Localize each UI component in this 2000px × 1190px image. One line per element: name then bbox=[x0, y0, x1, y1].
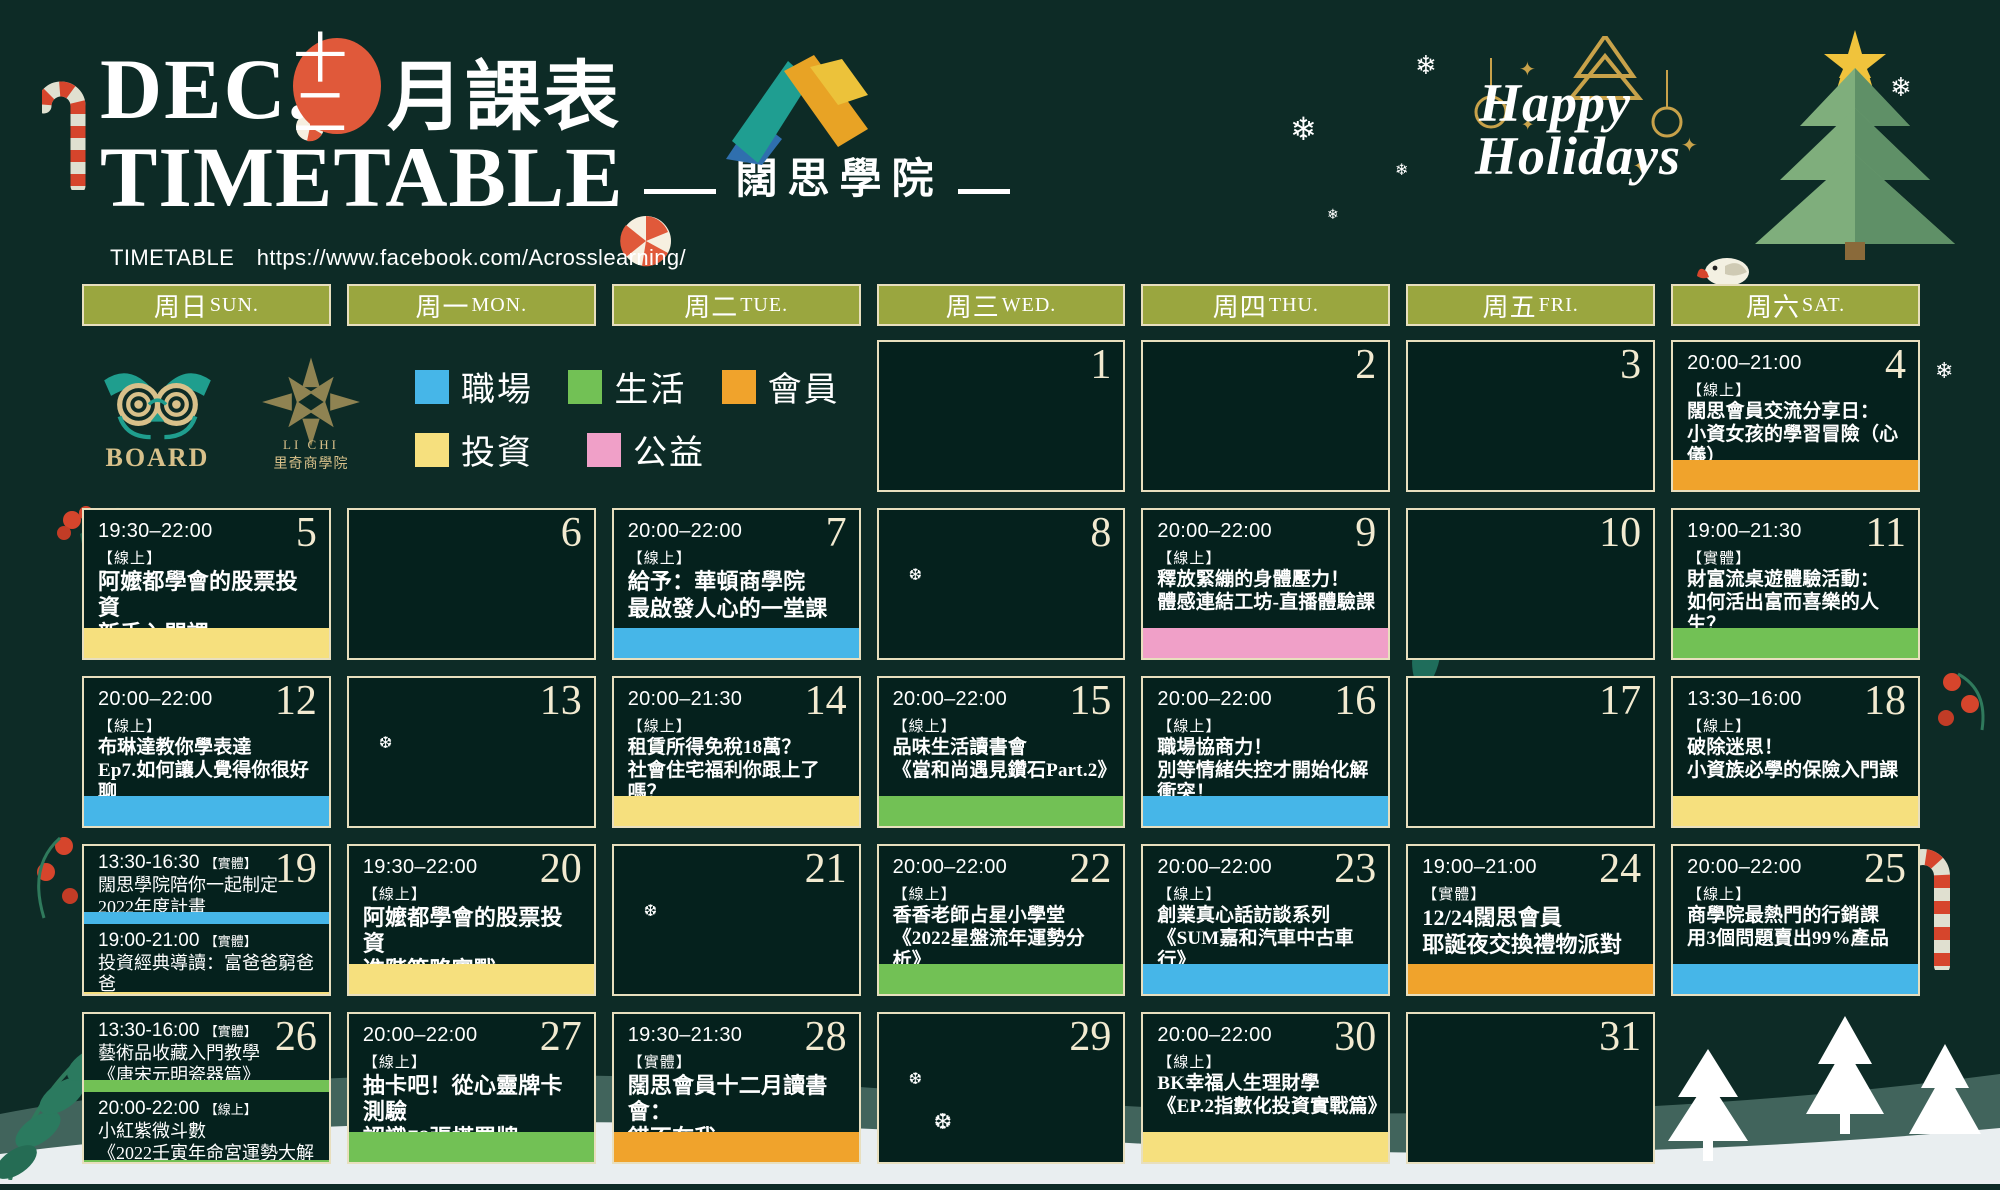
calendar-event[interactable]: 19:00–21:30【實體】財富流桌遊體驗活動：如何活出富而喜樂的人生？ bbox=[1673, 510, 1918, 636]
timetable-label: TIMETABLE bbox=[100, 134, 624, 220]
event-mode: 【線上】 bbox=[205, 1102, 257, 1117]
event-time: 19:30–22:00 bbox=[84, 510, 329, 543]
month-en-label: DEC. bbox=[100, 49, 311, 131]
event-time: 20:00–22:00 bbox=[349, 1014, 594, 1047]
event-title-line: 小紅紫微斗數 bbox=[84, 1120, 329, 1142]
event-title-line: 用3個問題賣出99%產品 bbox=[1673, 927, 1918, 950]
legend-item-investment: 投資 bbox=[415, 425, 587, 474]
snowflake-icon: ❆ bbox=[644, 901, 657, 921]
weekday-header-row: 周日SUN. 周一MON. 周二TUE. 周三WED. 周四THU. 周五FRI… bbox=[82, 284, 1920, 326]
event-time: 13:30–16:00 bbox=[1673, 678, 1918, 711]
legend-item-member: 會員 bbox=[722, 362, 875, 411]
event-title-line: 破除迷思！ bbox=[1673, 736, 1918, 759]
url-label: TIMETABLE bbox=[110, 245, 234, 270]
legend-row-2: 投資 公益 bbox=[415, 425, 875, 474]
calendar-event[interactable]: 19:30–21:30【實體】闊思會員十二月讀書會：錯不在我 bbox=[614, 1014, 859, 1151]
calendar-day-cell[interactable]: 1520:00–22:00【線上】品味生活讀書會《當和尚遇見鑽石Part.2》 bbox=[877, 676, 1126, 828]
event-category-bar bbox=[84, 796, 329, 826]
event-category-bar bbox=[84, 992, 329, 996]
event-title-line: 香香老師占星小學堂 bbox=[879, 904, 1124, 927]
day-number: 21 bbox=[805, 848, 847, 890]
berry-branch-icon bbox=[1932, 660, 2000, 770]
event-title-line: BK幸福人生理財學 bbox=[1143, 1072, 1388, 1095]
legend-swatch-icon bbox=[722, 370, 756, 404]
event-title-line: 創業真心話訪談系列 bbox=[1143, 904, 1388, 927]
event-category-bar bbox=[1673, 964, 1918, 994]
month-stamp: 十二 bbox=[293, 38, 381, 134]
weekday-cn-label: 周四 bbox=[1213, 287, 1267, 324]
event-time: 19:00-21:00 【實體】 bbox=[84, 924, 329, 952]
event-time: 20:00–22:00 bbox=[1143, 678, 1388, 711]
calendar-event[interactable]: 20:00–21:00【線上】闊思會員交流分享日：小資女孩的學習冒險（心儀） bbox=[1673, 342, 1918, 468]
legend-label: 公益 bbox=[633, 425, 705, 474]
title-divider bbox=[644, 189, 716, 194]
event-mode: 【實體】 bbox=[1673, 543, 1918, 568]
event-time: 19:30–21:30 bbox=[614, 1014, 859, 1047]
month-stamp-label: 十二 bbox=[293, 32, 381, 140]
calendar-event[interactable]: 20:00–22:00【線上】給予：華頓商學院最啟發人心的一堂課 bbox=[614, 510, 859, 621]
calendar-day-cell[interactable]: 420:00–21:00【線上】闊思會員交流分享日：小資女孩的學習冒險（心儀） bbox=[1671, 340, 1920, 492]
event-title-line: 《當和尚遇見鑽石Part.2》 bbox=[879, 759, 1124, 782]
calendar-event[interactable]: 20:00–22:00【線上】商學院最熱門的行銷課用3個問題賣出99%產品 bbox=[1673, 846, 1918, 950]
event-time: 19:30–22:00 bbox=[349, 846, 594, 879]
legend-row-1: 職場 生活 會員 bbox=[415, 362, 875, 411]
weekday-cn-label: 周日 bbox=[154, 287, 208, 324]
event-title-line: 商學院最熱門的行銷課 bbox=[1673, 904, 1918, 927]
event-category-bar bbox=[84, 912, 329, 924]
event-title-line: 闊思會員十二月讀書會： bbox=[614, 1072, 859, 1124]
calendar-event[interactable]: 13:30-16:00 【實體】藝術品收藏入門教學《唐宋元明瓷器篇》 bbox=[84, 1014, 329, 1086]
weekday-cn-label: 周二 bbox=[684, 287, 738, 324]
event-category-bar bbox=[1143, 1132, 1388, 1162]
event-title-line: 財富流桌遊體驗活動： bbox=[1673, 568, 1918, 591]
event-time: 13:30-16:00 【實體】 bbox=[84, 1014, 329, 1042]
calendar-day-cell[interactable]: 21❆ bbox=[612, 844, 861, 996]
event-category-bar bbox=[1408, 964, 1653, 994]
calendar-day-cell[interactable]: 2720:00–22:00【線上】抽卡吧！從心靈牌卡測驗認識78張塔羅牌 bbox=[347, 1012, 596, 1164]
weekday-en-label: MON. bbox=[471, 294, 527, 317]
happy-label: Happy bbox=[1479, 78, 1725, 129]
day-number: 6 bbox=[561, 512, 582, 554]
partner-lichi-logo: LI CHI 里奇商學院 bbox=[251, 354, 371, 473]
category-legend: 職場 生活 會員 投資 公益 bbox=[415, 362, 875, 488]
event-time: 20:00–22:00 bbox=[879, 678, 1124, 711]
weekday-cn-label: 周五 bbox=[1483, 287, 1537, 324]
event-title-line: 耶誕夜交換禮物派對 bbox=[1408, 931, 1653, 958]
weekday-en-label: WED. bbox=[1002, 294, 1057, 317]
event-time: 20:00–22:00 bbox=[879, 846, 1124, 879]
calendar-event[interactable]: 19:30–22:00【線上】阿嬤都學會的股票投資新手入門課 bbox=[84, 510, 329, 647]
event-mode: 【線上】 bbox=[1143, 543, 1388, 568]
day-number: 13 bbox=[540, 680, 582, 722]
weekday-thu: 周四THU. bbox=[1141, 284, 1390, 326]
calendar-day-cell[interactable]: 29❆❆ bbox=[877, 1012, 1126, 1164]
event-category-bar bbox=[1673, 628, 1918, 658]
calendar-event[interactable]: 19:30–22:00【線上】阿嬤都學會的股票投資進階策略實戰 bbox=[349, 846, 594, 983]
snowflake-icon: ❆ bbox=[909, 565, 922, 585]
snowflake-icon: ❆ bbox=[934, 1109, 952, 1135]
weekday-wed: 周三WED. bbox=[877, 284, 1126, 326]
event-category-bar bbox=[614, 628, 859, 658]
event-time: 20:00–22:00 bbox=[1143, 846, 1388, 879]
event-title-line: 闊思學院陪你一起制定 bbox=[84, 874, 329, 896]
event-title-line: 投資經典導讀：富爸爸窮爸爸 bbox=[84, 952, 329, 994]
calendar-day-cell[interactable]: 2819:30–21:30【實體】闊思會員十二月讀書會：錯不在我 bbox=[612, 1012, 861, 1164]
weekday-tue: 周二TUE. bbox=[612, 284, 861, 326]
weekday-en-label: SUN. bbox=[210, 294, 259, 317]
event-mode: 【線上】 bbox=[1143, 1047, 1388, 1072]
weekday-en-label: FRI. bbox=[1539, 294, 1579, 317]
event-mode: 【線上】 bbox=[349, 879, 594, 904]
calendar-day-cell[interactable]: 1220:00–22:00【線上】布琳達教你學表達Ep7.如何讓人覺得你很好聊 bbox=[82, 676, 331, 828]
event-time: 20:00–22:00 bbox=[1143, 510, 1388, 543]
calendar-day-cell[interactable]: 3020:00–22:00【線上】BK幸福人生理財學《EP.2指數化投資實戰篇》 bbox=[1141, 1012, 1390, 1164]
day-number: 1 bbox=[1090, 344, 1111, 386]
event-mode: 【線上】 bbox=[614, 711, 859, 736]
calendar-day-cell[interactable]: 1913:30-16:30 【實體】闊思學院陪你一起制定2022年度計畫19:0… bbox=[82, 844, 331, 996]
calendar-day-cell[interactable]: 17 bbox=[1406, 676, 1655, 828]
title-divider-2 bbox=[958, 189, 1010, 194]
calendar-day-cell[interactable]: 2320:00–22:00【線上】創業真心話訪談系列《SUM嘉和汽車中古車行》 bbox=[1141, 844, 1390, 996]
weekday-en-label: THU. bbox=[1269, 294, 1319, 317]
event-mode: 【實體】 bbox=[205, 1024, 257, 1039]
event-time: 19:00–21:30 bbox=[1673, 510, 1918, 543]
event-category-bar bbox=[1673, 460, 1918, 490]
calendar-event[interactable]: 20:00–22:00【線上】職場協商力！別等情緒失控才開始化解衝突！ bbox=[1143, 678, 1388, 804]
calendar-day-cell[interactable]: 1620:00–22:00【線上】職場協商力！別等情緒失控才開始化解衝突！ bbox=[1141, 676, 1390, 828]
event-mode: 【線上】 bbox=[349, 1047, 594, 1072]
calendar-event[interactable]: 19:00-21:00 【實體】投資經典導讀：富爸爸窮爸爸 bbox=[84, 924, 329, 996]
calendar-event[interactable]: 20:00–21:30【線上】租賃所得免稅18萬？社會住宅福利你跟上了嗎？ bbox=[614, 678, 859, 804]
event-category-bar bbox=[879, 964, 1124, 994]
event-time: 20:00–21:00 bbox=[1673, 342, 1918, 375]
event-mode: 【線上】 bbox=[879, 711, 1124, 736]
event-title-line: 闊思會員交流分享日： bbox=[1673, 400, 1918, 423]
event-category-bar bbox=[614, 1132, 859, 1162]
calendar-event[interactable]: 20:00–22:00【線上】布琳達教你學表達Ep7.如何讓人覺得你很好聊 bbox=[84, 678, 329, 804]
calendar-cell-empty bbox=[1671, 1012, 1920, 1164]
event-title-line: 抽卡吧！從心靈牌卡測驗 bbox=[349, 1072, 594, 1124]
calendar-event[interactable]: 20:00–22:00【線上】釋放緊繃的身體壓力！體感連結工坊-直播體驗課 bbox=[1143, 510, 1388, 614]
weekday-cn-label: 周一 bbox=[415, 287, 469, 324]
event-mode: 【線上】 bbox=[1143, 879, 1388, 904]
weekday-mon: 周一MON. bbox=[347, 284, 596, 326]
calendar-event[interactable]: 20:00–22:00【線上】抽卡吧！從心靈牌卡測驗認識78張塔羅牌 bbox=[349, 1014, 594, 1151]
event-time: 20:00–22:00 bbox=[84, 678, 329, 711]
legend-swatch-icon bbox=[587, 433, 621, 467]
weekday-cn-label: 周六 bbox=[1746, 287, 1800, 324]
event-category-bar bbox=[879, 796, 1124, 826]
title-block: DEC. 十二 月課表 TIMETABLE 闊思學院 bbox=[100, 40, 1010, 220]
calendar-day-cell[interactable]: 2520:00–22:00【線上】商學院最熱門的行銷課用3個問題賣出99%產品 bbox=[1671, 844, 1920, 996]
calendar-day-cell[interactable]: 2 bbox=[1141, 340, 1390, 492]
event-title-line: 阿嬤都學會的股票投資 bbox=[349, 904, 594, 956]
event-mode: 【實體】 bbox=[205, 934, 257, 949]
calendar-day-cell[interactable]: 2419:00–21:00【實體】12/24闊思會員耶誕夜交換禮物派對 bbox=[1406, 844, 1655, 996]
snowflake-icon: ❆ bbox=[379, 733, 392, 753]
calendar-day-cell[interactable]: 1420:00–21:30【線上】租賃所得免稅18萬？社會住宅福利你跟上了嗎？ bbox=[612, 676, 861, 828]
calendar-event[interactable]: 20:00-22:00 【線上】小紅紫微斗數《2022壬寅年命宮運勢大解密》 bbox=[84, 1092, 329, 1164]
calendar-day-cell[interactable]: 8❆ bbox=[877, 508, 1126, 660]
calendar-event[interactable]: 20:00–22:00【線上】BK幸福人生理財學《EP.2指數化投資實戰篇》 bbox=[1143, 1014, 1388, 1118]
event-category-bar bbox=[349, 964, 594, 994]
calendar-event[interactable]: 19:00–21:00【實體】12/24闊思會員耶誕夜交換禮物派對 bbox=[1408, 846, 1653, 957]
page-header: DEC. 十二 月課表 TIMETABLE 闊思學院 TIMETABLE htt… bbox=[0, 0, 2000, 280]
snowflake-icon: ❆ bbox=[909, 1069, 922, 1089]
event-mode: 【線上】 bbox=[84, 543, 329, 568]
event-category-bar bbox=[349, 1132, 594, 1162]
event-title-line: 阿嬤都學會的股票投資 bbox=[84, 568, 329, 620]
calendar-day-cell[interactable]: 519:30–22:00【線上】阿嬤都學會的股票投資新手入門課 bbox=[82, 508, 331, 660]
event-mode: 【線上】 bbox=[1673, 375, 1918, 400]
calendar-day-cell[interactable]: 13❆ bbox=[347, 676, 596, 828]
event-category-bar bbox=[1143, 628, 1388, 658]
legend-swatch-icon bbox=[415, 370, 449, 404]
calendar-day-cell[interactable]: 2019:30–22:00【線上】阿嬤都學會的股票投資進階策略實戰 bbox=[347, 844, 596, 996]
weekday-cn-label: 周三 bbox=[946, 287, 1000, 324]
calendar-day-cell[interactable]: 10 bbox=[1406, 508, 1655, 660]
event-time: 20:00–22:00 bbox=[1673, 846, 1918, 879]
event-time: 19:00–21:00 bbox=[1408, 846, 1653, 879]
weekday-en-label: SAT. bbox=[1802, 294, 1845, 317]
berry-branch-icon bbox=[18, 820, 88, 940]
owl-icon bbox=[90, 358, 225, 444]
weekday-fri: 周五FRI. bbox=[1406, 284, 1655, 326]
calendar-event[interactable]: 20:00–22:00【線上】香香老師占星小學堂《2022星盤流年運勢分析》 bbox=[879, 846, 1124, 972]
legend-item-charity: 公益 bbox=[587, 425, 759, 474]
event-category-bar bbox=[1143, 796, 1388, 826]
event-time: 13:30-16:30 【實體】 bbox=[84, 846, 329, 874]
event-mode: 【實體】 bbox=[1408, 879, 1653, 904]
facebook-url-link[interactable]: https://www.facebook.com/Acrosslearning/ bbox=[257, 245, 686, 270]
day-number: 8 bbox=[1090, 512, 1111, 554]
calendar-day-cell[interactable]: 31 bbox=[1406, 1012, 1655, 1164]
calendar-day-cell[interactable]: 1813:30–16:00【線上】破除迷思！小資族必學的保險入門課 bbox=[1671, 676, 1920, 828]
day-number: 17 bbox=[1599, 680, 1641, 722]
event-mode: 【線上】 bbox=[1673, 879, 1918, 904]
day-number: 31 bbox=[1599, 1016, 1641, 1058]
event-mode: 【線上】 bbox=[879, 879, 1124, 904]
event-time: 20:00–21:30 bbox=[614, 678, 859, 711]
weekday-en-label: TUE. bbox=[740, 294, 788, 317]
legend-label: 會員 bbox=[768, 362, 840, 411]
event-category-bar bbox=[84, 1160, 329, 1164]
event-time: 20:00-22:00 【線上】 bbox=[84, 1092, 329, 1120]
legend-label: 職場 bbox=[461, 362, 533, 411]
event-title-line: 小資族必學的保險入門課 bbox=[1673, 759, 1918, 782]
calendar-day-cell[interactable]: 6 bbox=[347, 508, 596, 660]
event-category-bar bbox=[84, 1080, 329, 1092]
partner-logos: BOARD LI CHI 里奇商學院 bbox=[90, 348, 390, 473]
event-title-line: 布琳達教你學表達 bbox=[84, 736, 329, 759]
day-number: 10 bbox=[1599, 512, 1641, 554]
event-title-line: 12/24闊思會員 bbox=[1408, 904, 1653, 931]
partner-board-label: BOARD bbox=[90, 443, 225, 473]
event-title-line: 租賃所得免稅18萬？ bbox=[614, 736, 859, 759]
legend-label: 投資 bbox=[461, 425, 533, 474]
calendar-day-cell[interactable]: 1 bbox=[877, 340, 1126, 492]
facebook-url-row[interactable]: TIMETABLE https://www.facebook.com/Acros… bbox=[110, 245, 686, 271]
calendar-day-cell[interactable]: 2613:30-16:00 【實體】藝術品收藏入門教學《唐宋元明瓷器篇》20:0… bbox=[82, 1012, 331, 1164]
calendar-day-cell[interactable]: 3 bbox=[1406, 340, 1655, 492]
calendar-event[interactable]: 20:00–22:00【線上】品味生活讀書會《當和尚遇見鑽石Part.2》 bbox=[879, 678, 1124, 782]
holidays-label: Holidays bbox=[1475, 131, 1725, 182]
legend-swatch-icon bbox=[415, 433, 449, 467]
calendar-event[interactable]: 13:30-16:30 【實體】闊思學院陪你一起制定2022年度計畫 bbox=[84, 846, 329, 918]
event-category-bar bbox=[84, 628, 329, 658]
event-mode: 【線上】 bbox=[614, 543, 859, 568]
calendar-day-cell[interactable]: 2220:00–22:00【線上】香香老師占星小學堂《2022星盤流年運勢分析》 bbox=[877, 844, 1126, 996]
event-category-bar bbox=[1143, 964, 1388, 994]
event-mode: 【線上】 bbox=[1673, 711, 1918, 736]
legend-item-life: 生活 bbox=[568, 362, 721, 411]
event-title-line: 職場協商力！ bbox=[1143, 736, 1388, 759]
event-category-bar bbox=[1673, 796, 1918, 826]
event-title-line: 給予：華頓商學院 bbox=[614, 568, 859, 595]
day-number: 2 bbox=[1355, 344, 1376, 386]
happy-holidays-graphic: ✦ ✦ ✦ ✦ Happy Holidays bbox=[1455, 50, 1725, 210]
event-time: 20:00–22:00 bbox=[1143, 1014, 1388, 1047]
event-title-line: 最啟發人心的一堂課 bbox=[614, 595, 859, 622]
legend-swatch-icon bbox=[568, 370, 602, 404]
event-title-line: 《EP.2指數化投資實戰篇》 bbox=[1143, 1095, 1388, 1118]
calendar-event[interactable]: 13:30–16:00【線上】破除迷思！小資族必學的保險入門課 bbox=[1673, 678, 1918, 782]
event-mode: 【實體】 bbox=[205, 856, 257, 871]
calendar-day-cell[interactable]: 720:00–22:00【線上】給予：華頓商學院最啟發人心的一堂課 bbox=[612, 508, 861, 660]
legend-item-workplace: 職場 bbox=[415, 362, 568, 411]
weekday-sat: 周六SAT. bbox=[1671, 284, 1920, 326]
event-time: 20:00–22:00 bbox=[614, 510, 859, 543]
event-title-line: 品味生活讀書會 bbox=[879, 736, 1124, 759]
weekday-sun: 周日SUN. bbox=[82, 284, 331, 326]
across-learning-x-logo bbox=[718, 55, 868, 165]
calendar-day-cell[interactable]: 1119:00–21:30【實體】財富流桌遊體驗活動：如何活出富而喜樂的人生？ bbox=[1671, 508, 1920, 660]
snowflake-icon: ❄ bbox=[1935, 358, 1953, 384]
partner-lichi-cn-label: 里奇商學院 bbox=[251, 453, 371, 473]
event-mode: 【實體】 bbox=[614, 1047, 859, 1072]
event-category-bar bbox=[614, 796, 859, 826]
calendar-event[interactable]: 20:00–22:00【線上】創業真心話訪談系列《SUM嘉和汽車中古車行》 bbox=[1143, 846, 1388, 972]
event-title-line: 釋放緊繃的身體壓力！ bbox=[1143, 568, 1388, 591]
partner-board-logo: BOARD bbox=[90, 358, 225, 473]
event-mode: 【線上】 bbox=[1143, 711, 1388, 736]
event-title-line: 體感連結工坊-直播體驗課 bbox=[1143, 591, 1388, 614]
event-mode: 【線上】 bbox=[84, 711, 329, 736]
compass-star-icon bbox=[257, 354, 365, 450]
calendar-day-cell[interactable]: 920:00–22:00【線上】釋放緊繃的身體壓力！體感連結工坊-直播體驗課 bbox=[1141, 508, 1390, 660]
day-number: 29 bbox=[1069, 1016, 1111, 1058]
legend-label: 生活 bbox=[614, 362, 686, 411]
day-number: 3 bbox=[1620, 344, 1641, 386]
event-title-line: 藝術品收藏入門教學 bbox=[84, 1042, 329, 1064]
